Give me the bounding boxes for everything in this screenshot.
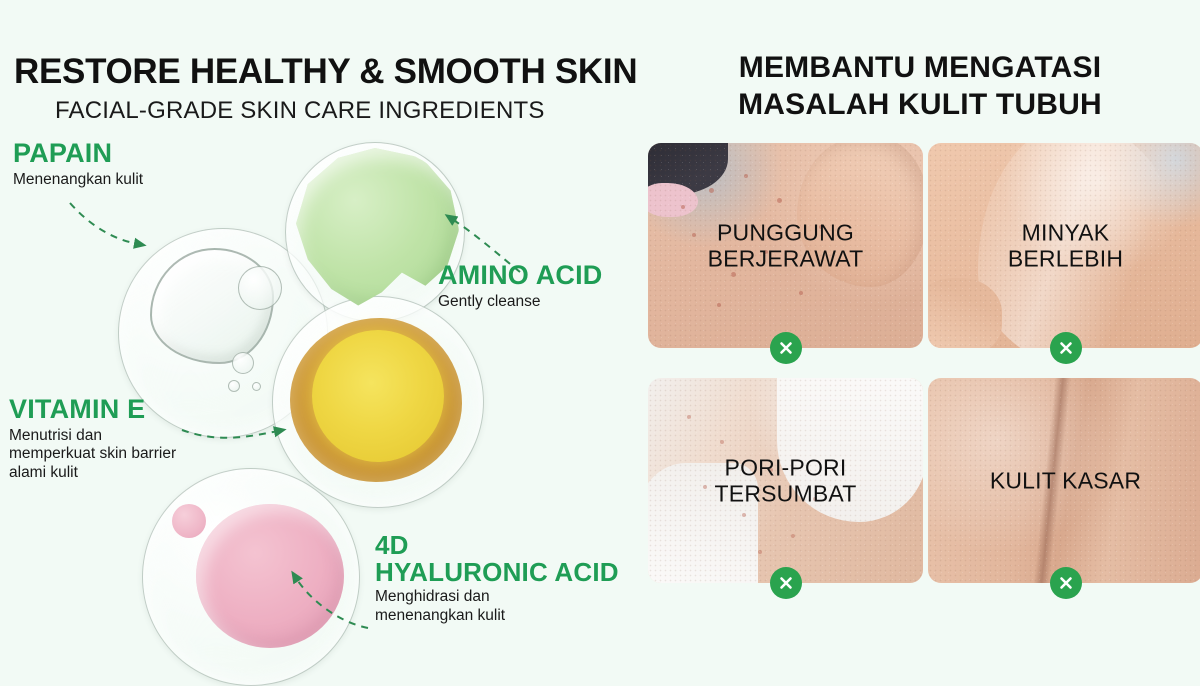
ingredient-hyaluronic-acid: 4D HYALURONIC ACID Menghidrasi dan menen… [375,532,619,626]
skin-problems-panel: MEMBANTU MENGATASI MASALAH KULIT TUBUH [640,0,1200,675]
ingredient-hyaluronic-acid-title-line2: HYALURONIC ACID [375,559,619,586]
problem-card-label: PORI-PORI TERSUMBAT [648,454,923,507]
left-subheadline: FACIAL-GRADE SKIN CARE INGREDIENTS [55,97,545,125]
problem-card-back-acne[interactable]: PUNGGUNG BERJERAWAT [648,143,923,348]
ingredient-amino-acid-description: Gently cleanse [438,293,603,312]
problem-card-grid: PUNGGUNG BERJERAWAT MINYAK BERLEBIH [648,143,1200,583]
problem-card-label: KULIT KASAR [928,467,1200,494]
ingredient-papain-description: Menenangkan kulit [13,171,143,190]
ingredient-amino-acid-title: AMINO ACID [438,262,603,290]
ingredient-hyaluronic-acid-title-line1: 4D [375,532,619,559]
x-mark-icon [1050,567,1082,599]
x-mark-icon [770,332,802,364]
ingredient-papain: PAPAIN Menenangkan kulit [13,140,143,189]
problem-card-label: PUNGGUNG BERJERAWAT [648,219,923,272]
ingredient-papain-title: PAPAIN [13,140,143,168]
x-mark-icon [1050,332,1082,364]
gel-bubble [232,352,254,374]
gel-bubble [238,266,282,310]
x-mark-icon [770,567,802,599]
ingredients-panel: RESTORE HEALTHY & SMOOTH SKIN FACIAL-GRA… [0,0,640,675]
pink-serum-droplet-small [172,504,206,538]
problem-card-label: MINYAK BERLEBIH [928,219,1200,272]
right-headline: MEMBANTU MENGATASI MASALAH KULIT TUBUH [640,50,1200,123]
golden-oil-core [312,330,444,462]
gel-bubble [252,382,261,391]
right-headline-line1: MEMBANTU MENGATASI [640,50,1200,87]
problem-card-rough-skin[interactable]: KULIT KASAR [928,378,1200,583]
ingredient-amino-acid: AMINO ACID Gently cleanse [438,262,603,311]
gel-bubble [228,380,240,392]
ingredient-vitamin-e: VITAMIN E Menutrisi dan memperkuat skin … [9,396,179,483]
problem-card-clogged-pores[interactable]: PORI-PORI TERSUMBAT [648,378,923,583]
arrow-papain [70,203,138,244]
problem-card-excess-oil[interactable]: MINYAK BERLEBIH [928,143,1200,348]
left-headline: RESTORE HEALTHY & SMOOTH SKIN [14,52,637,92]
infographic-canvas: RESTORE HEALTHY & SMOOTH SKIN FACIAL-GRA… [0,0,1200,675]
ingredient-vitamin-e-description: Menutrisi dan memperkuat skin barrier al… [9,427,179,484]
ingredient-hyaluronic-acid-description: Menghidrasi dan menenangkan kulit [375,588,555,626]
ingredient-vitamin-e-title: VITAMIN E [9,396,179,424]
pink-serum-drop [196,504,344,648]
right-headline-line2: MASALAH KULIT TUBUH [640,87,1200,124]
